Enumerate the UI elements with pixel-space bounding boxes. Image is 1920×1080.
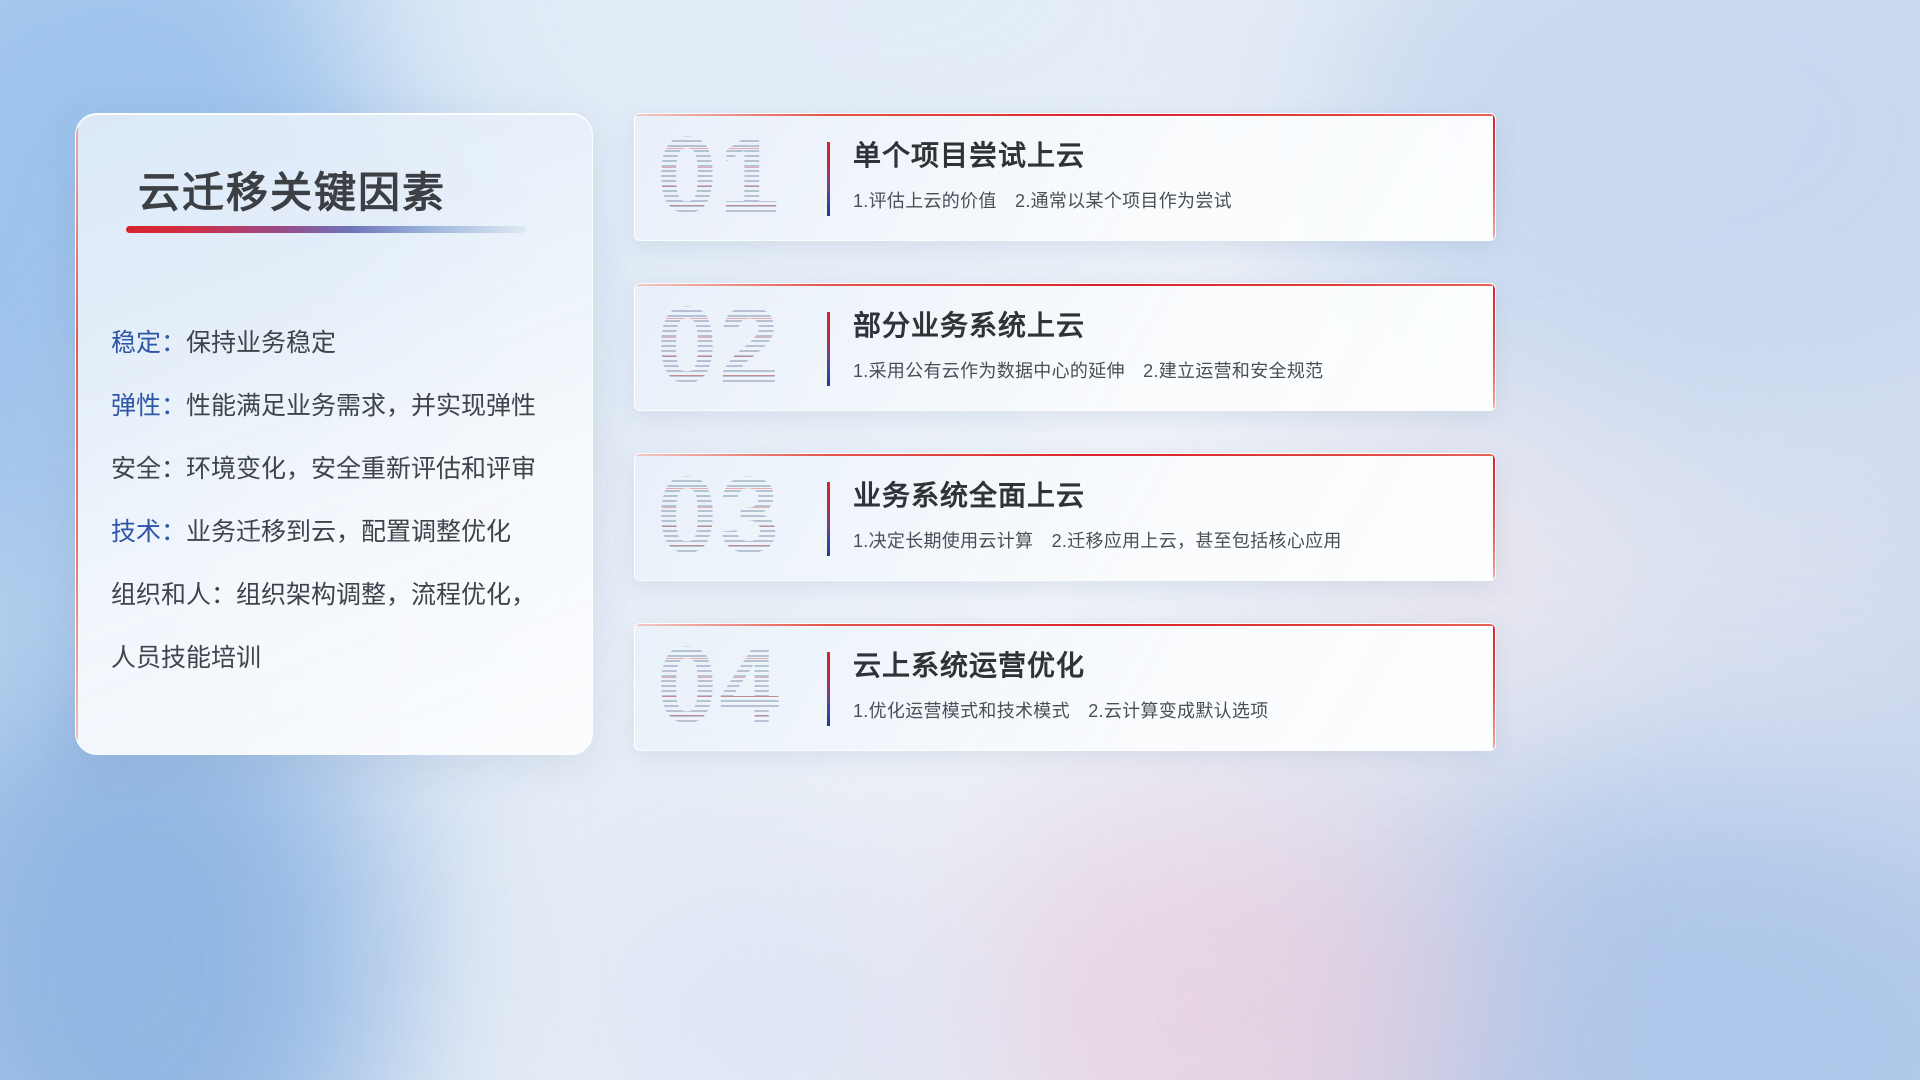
key-factors-panel: 云迁移关键因素 稳定：保持业务稳定弹性：性能满足业务需求，并实现弹性安全：环境变…: [75, 113, 593, 755]
step-number-watermark: 01: [657, 113, 781, 240]
step-title: 部分业务系统上云: [853, 306, 1471, 346]
step-divider-bar: [827, 652, 830, 726]
step-number-watermark: 02: [657, 283, 781, 410]
factor-label: 技术：: [111, 518, 186, 546]
step-description: 1.决定长期使用云计算 2.迁移应用上云，甚至包括核心应用: [853, 527, 1471, 553]
factor-label: 弹性：: [111, 392, 186, 420]
slide-stage: 云迁移关键因素 稳定：保持业务稳定弹性：性能满足业务需求，并实现弹性安全：环境变…: [0, 0, 1920, 1080]
factor-text: 环境变化，安全重新评估和评审: [186, 455, 536, 483]
factor-item: 稳定：保持业务稳定: [111, 312, 572, 375]
title-underline-accent: [126, 226, 526, 233]
factor-item: 组织和人：组织架构调整，流程优化，: [111, 564, 572, 627]
factor-item: 安全：环境变化，安全重新评估和评审: [111, 438, 572, 501]
factor-text: 人员技能培训: [111, 644, 261, 672]
factor-text: 性能满足业务需求，并实现弹性: [186, 392, 536, 420]
factor-text: 业务迁移到云，配置调整优化: [186, 518, 511, 546]
factor-item: 技术：业务迁移到云，配置调整优化: [111, 501, 572, 564]
factor-text: 保持业务稳定: [186, 329, 336, 357]
step-divider-bar: [827, 312, 830, 386]
step-content: 业务系统全面上云1.决定长期使用云计算 2.迁移应用上云，甚至包括核心应用: [853, 476, 1471, 553]
step-title: 云上系统运营优化: [853, 646, 1471, 686]
factor-item: 弹性：性能满足业务需求，并实现弹性: [111, 375, 572, 438]
step-divider-bar: [827, 482, 830, 556]
factor-text: 组织架构调整，流程优化，: [236, 581, 536, 609]
step-card[interactable]: 0303业务系统全面上云1.决定长期使用云计算 2.迁移应用上云，甚至包括核心应…: [634, 453, 1496, 581]
step-divider-bar: [827, 142, 830, 216]
step-card[interactable]: 0202部分业务系统上云1.采用公有云作为数据中心的延伸 2.建立运营和安全规范: [634, 283, 1496, 411]
step-content: 部分业务系统上云1.采用公有云作为数据中心的延伸 2.建立运营和安全规范: [853, 306, 1471, 383]
factor-item: 人员技能培训: [111, 627, 572, 690]
factor-label: 安全：: [111, 455, 186, 483]
page-title: 云迁移关键因素: [138, 159, 446, 220]
step-description: 1.优化运营模式和技术模式 2.云计算变成默认选项: [853, 697, 1471, 723]
step-number-watermark: 04: [657, 623, 781, 750]
step-description: 1.评估上云的价值 2.通常以某个项目作为尝试: [853, 187, 1471, 213]
migration-steps-list: 0101单个项目尝试上云1.评估上云的价值 2.通常以某个项目作为尝试0202部…: [634, 113, 1496, 793]
step-title: 单个项目尝试上云: [853, 136, 1471, 176]
step-card[interactable]: 0404云上系统运营优化1.优化运营模式和技术模式 2.云计算变成默认选项: [634, 623, 1496, 751]
factor-label: 稳定：: [111, 329, 186, 357]
step-content: 单个项目尝试上云1.评估上云的价值 2.通常以某个项目作为尝试: [853, 136, 1471, 213]
step-card[interactable]: 0101单个项目尝试上云1.评估上云的价值 2.通常以某个项目作为尝试: [634, 113, 1496, 241]
factor-label: 组织和人：: [111, 581, 236, 609]
step-number-watermark: 03: [657, 453, 781, 580]
step-title: 业务系统全面上云: [853, 476, 1471, 516]
step-description: 1.采用公有云作为数据中心的延伸 2.建立运营和安全规范: [853, 357, 1471, 383]
key-factors-list: 稳定：保持业务稳定弹性：性能满足业务需求，并实现弹性安全：环境变化，安全重新评估…: [111, 312, 572, 690]
step-content: 云上系统运营优化1.优化运营模式和技术模式 2.云计算变成默认选项: [853, 646, 1471, 723]
